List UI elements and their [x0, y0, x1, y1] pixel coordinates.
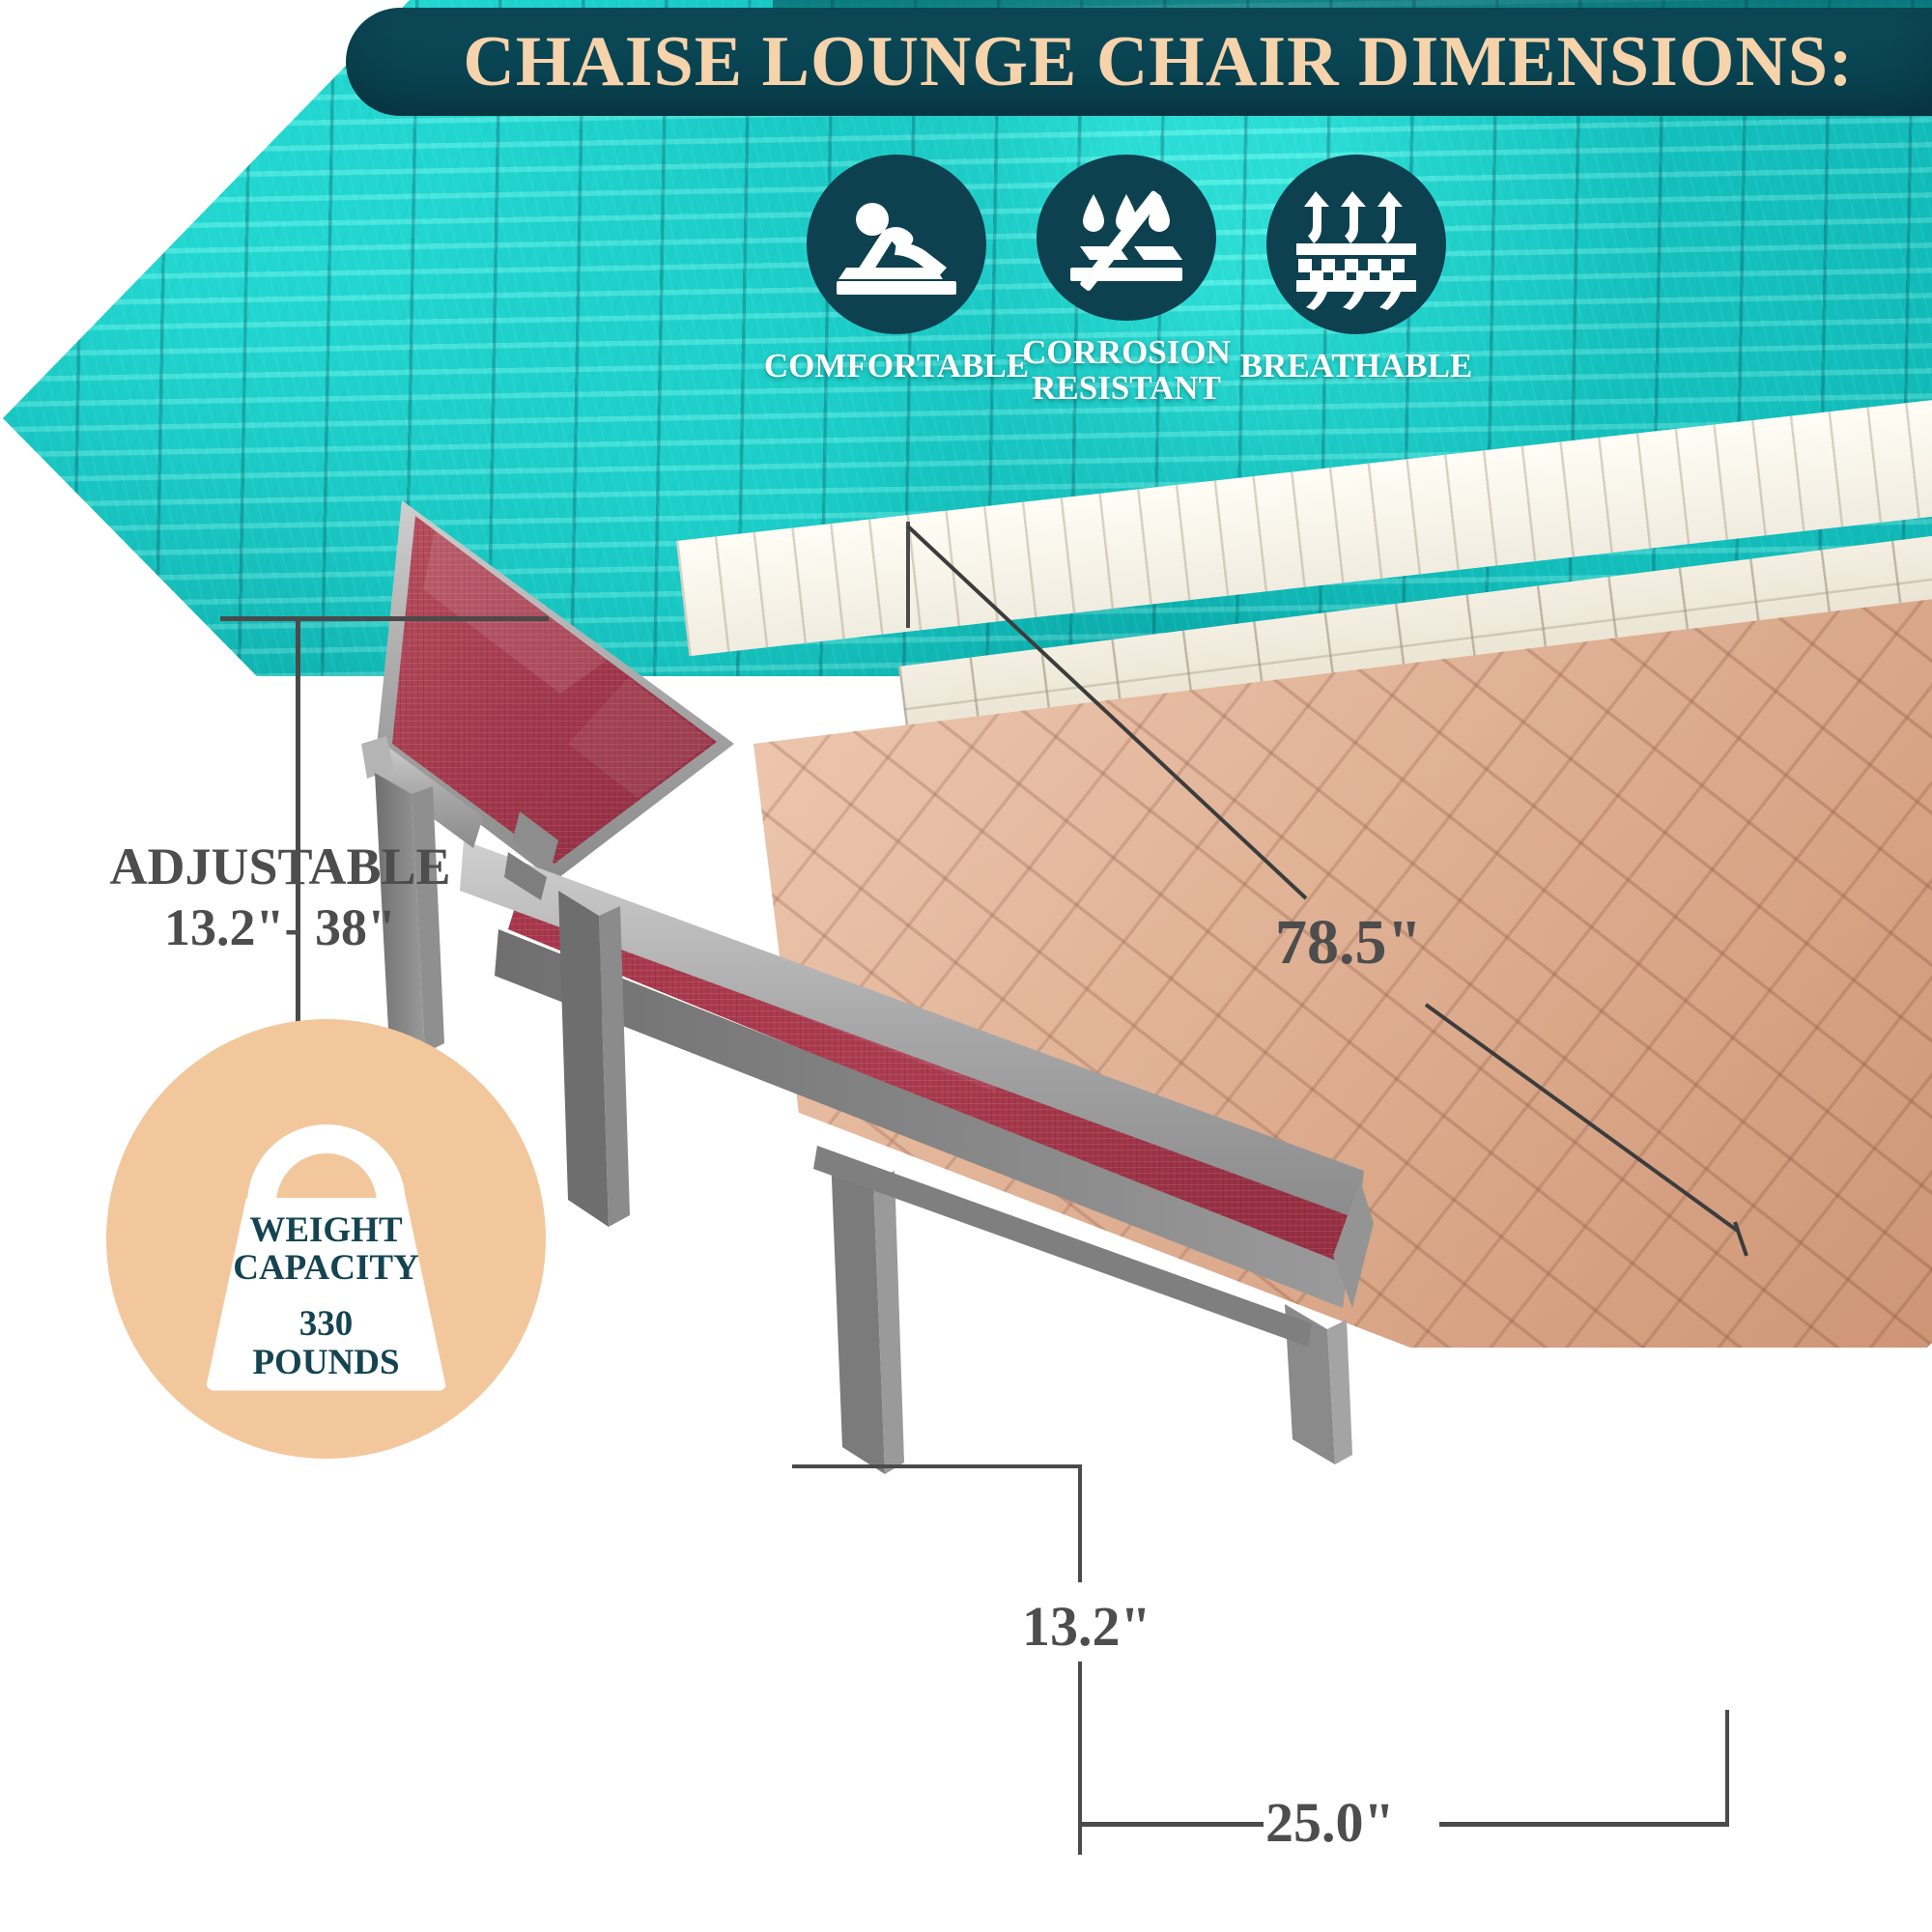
airflow-through-mesh-icon: [1289, 180, 1424, 310]
dimension-label-length: 78.5": [1275, 908, 1422, 979]
weight-label-line2: CAPACITY: [206, 1249, 447, 1288]
feature-comfortable: COMFORTABLE: [802, 155, 991, 406]
feature-label-corrosion: CORROSION RESISTANT: [1022, 334, 1231, 406]
feature-circle-corrosion: [1037, 155, 1216, 321]
feature-circle-breathable: [1266, 155, 1446, 334]
dimension-line-seat-height-vertical: [1078, 1466, 1082, 1582]
adjustable-title: ADJUSTABLE: [109, 838, 450, 895]
dimension-line-width-right: [1439, 1822, 1729, 1827]
person-reclining-on-lounger-icon: [829, 186, 964, 302]
dimension-label-width: 25.0": [1265, 1792, 1395, 1854]
dimension-label-adjustable: ADJUSTABLE 13.2"- 38": [97, 838, 464, 957]
page-title: CHAISE LOUNGE CHAIR DIMENSIONS:: [424, 26, 1853, 98]
dimension-label-seat-height: 13.2": [1022, 1596, 1151, 1658]
dimension-line-length-top-tick: [906, 522, 910, 628]
title-banner: CHAISE LOUNGE CHAIR DIMENSIONS:: [346, 8, 1932, 116]
weight-unit: POUNDS: [206, 1344, 447, 1382]
feature-badges: COMFORTABLE CORROSION RESISTANT: [802, 155, 1478, 406]
feature-label-comfortable: COMFORTABLE: [764, 348, 1029, 384]
weight-capacity-text: WEIGHT CAPACITY 330 POUNDS: [206, 1211, 447, 1383]
chaise-lounge-chair: [319, 454, 1671, 1517]
adjustable-range: 13.2"- 38": [97, 899, 464, 956]
weight-capacity-badge: WEIGHT CAPACITY 330 POUNDS: [106, 1019, 546, 1459]
weight-icon: WEIGHT CAPACITY 330 POUNDS: [206, 1128, 447, 1389]
infographic-canvas: CHAISE LOUNGE CHAIR DIMENSIONS: COMFORTA…: [0, 0, 1932, 1932]
water-droplets-no-corrosion-icon: [1059, 175, 1194, 300]
feature-label-breathable: BREATHABLE: [1240, 348, 1473, 384]
weight-value: 330: [206, 1305, 447, 1344]
feature-corrosion-resistant: CORROSION RESISTANT: [1032, 155, 1221, 406]
dimension-line-adjustable-top: [220, 616, 549, 621]
dimension-line-width-tick-right: [1725, 1710, 1729, 1826]
weight-label-line1: WEIGHT: [206, 1211, 447, 1250]
dimension-line-width-left: [1080, 1822, 1264, 1827]
feature-circle-comfortable: [807, 155, 986, 334]
dimension-line-seat-height-top: [792, 1464, 1082, 1468]
feature-breathable: BREATHABLE: [1262, 155, 1451, 406]
